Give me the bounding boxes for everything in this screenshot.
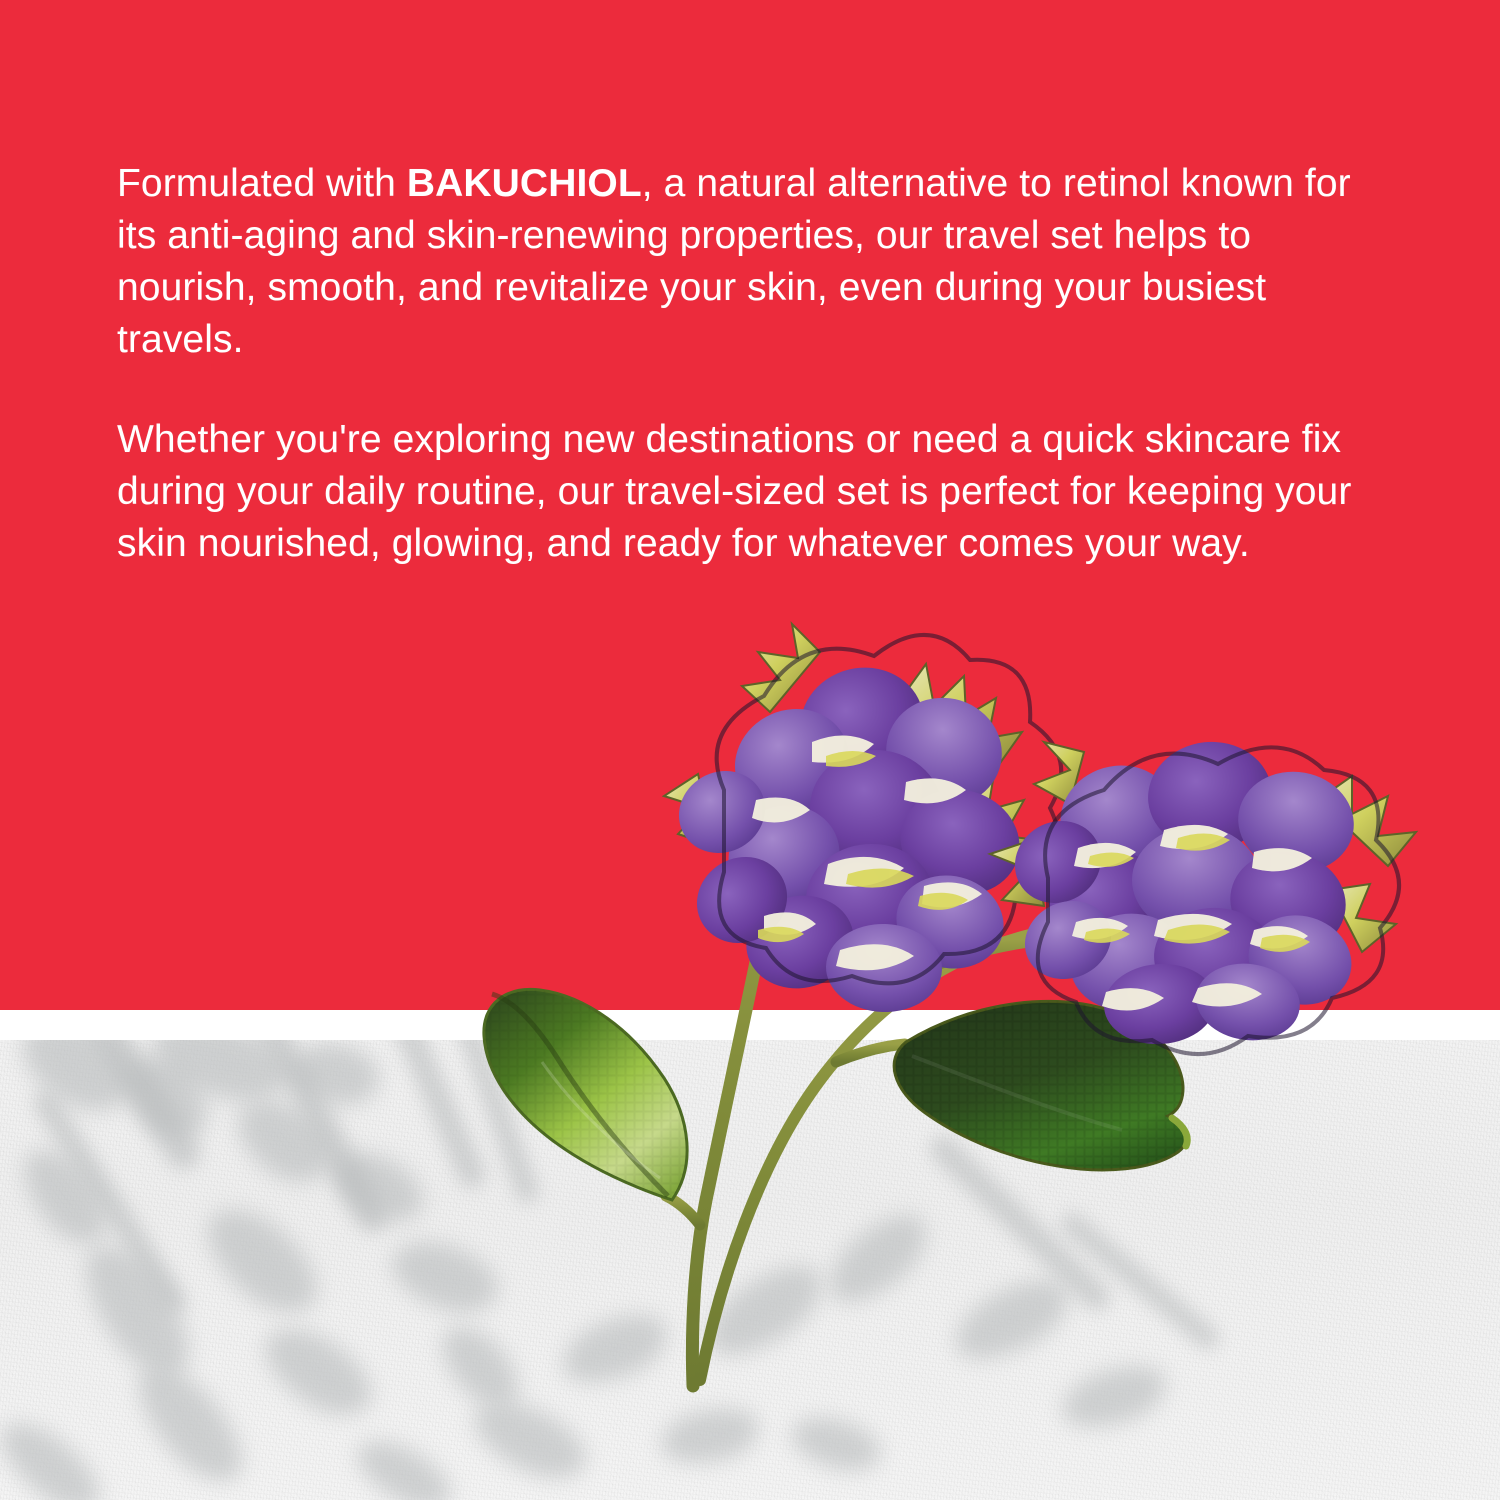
- leaf-shadow-blob: [943, 1264, 1081, 1375]
- leaf-shadow-blob: [694, 1249, 836, 1373]
- textured-wall-background: [0, 1040, 1500, 1500]
- leaf-shadow-blob: [553, 1302, 677, 1397]
- leaf-shadow-blob: [1054, 1355, 1173, 1440]
- paragraph-two: Whether you're exploring new destination…: [117, 414, 1397, 570]
- leaf-shadow-blob: [785, 1408, 887, 1479]
- bakuchiol-emphasis: BAKUCHIOL: [407, 162, 642, 205]
- paragraph-one-lead: Formulated with: [117, 162, 407, 205]
- marketing-banner: Formulated with BAKUCHIOL, a natural alt…: [0, 0, 1500, 1500]
- leaf-shadow-blob: [346, 1427, 461, 1500]
- leaf-shadow-blob: [250, 1312, 385, 1432]
- paragraph-one: Formulated with BAKUCHIOL, a natural alt…: [117, 158, 1397, 366]
- copy-block: Formulated with BAKUCHIOL, a natural alt…: [117, 158, 1397, 570]
- leaf-shadow-blob: [656, 1400, 765, 1472]
- leaf-shadow-blob: [120, 1350, 259, 1498]
- leaf-shadow-blob: [815, 1200, 941, 1319]
- leaf-shadow-blob: [0, 1408, 113, 1500]
- leaf-shadow-blob: [383, 1229, 508, 1325]
- leaf-shadow-blob: [190, 1191, 335, 1331]
